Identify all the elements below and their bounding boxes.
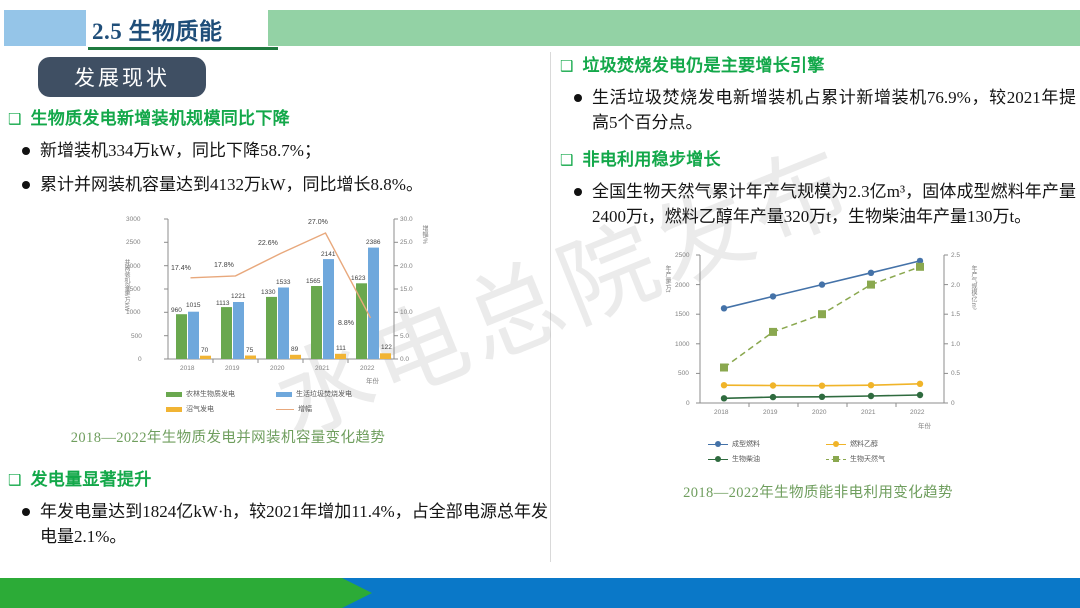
legend-label: 农林生物质发电	[186, 389, 235, 399]
square-bullet-icon: ❑	[8, 469, 21, 491]
chart1-ytick: 2500	[126, 239, 140, 246]
chart1-legend-item: 增幅	[276, 404, 312, 414]
left-section-2-heading: ❑ 发电量显著提升	[8, 469, 548, 491]
left-column: ❑ 生物质发电新增装机规模同比下降 新增装机334万kW，同比下降58.7%； …	[8, 108, 548, 558]
chart1-value-label: 89	[291, 346, 298, 353]
chart1-growth-label: 17.8%	[214, 262, 234, 269]
chart1-xtick: 2020	[270, 365, 284, 372]
chart1-y-axis-title: 并网装机容量/万kW	[122, 259, 131, 311]
legend-label: 增幅	[298, 404, 312, 414]
chart1-xtick: 2018	[180, 365, 194, 372]
chart2-y-axis-title: 年产量/万t	[663, 265, 672, 292]
chart1-value-label: 1221	[231, 293, 245, 300]
chart1-value-label: 2386	[366, 239, 380, 246]
list-item-text: 累计并网装机容量达到4132万kW，同比增长8.8%。	[40, 172, 423, 197]
chart1-value-label: 111	[336, 345, 346, 352]
chart1-value-label: 1623	[351, 275, 365, 282]
chart2-y2tick: 2.0	[951, 282, 960, 289]
list-item: 新增装机334万kW，同比下降58.7%；	[22, 138, 548, 163]
chart1-y2tick: 10.0	[400, 309, 413, 316]
chart2-y2-axis-title: 年产气规模/亿m³	[969, 265, 978, 310]
heading-text: 生物质发电新增装机规模同比下降	[30, 108, 290, 130]
square-bullet-icon: ❑	[560, 55, 573, 77]
right-section-2-heading: ❑ 非电利用稳步增长	[560, 149, 1076, 171]
chart2-ytick: 1000	[675, 341, 689, 348]
legend-swatch-icon	[276, 392, 292, 397]
legend-marker-icon	[708, 440, 728, 448]
legend-swatch-icon	[166, 392, 182, 397]
chart2-ytick: 2000	[675, 282, 689, 289]
chart1-legend-item: 沼气发电	[166, 404, 214, 414]
chart2-y2tick: 2.5	[951, 252, 960, 259]
chart2-legend-item: 生物柴油	[708, 454, 760, 464]
chart1-growth-label: 17.4%	[171, 265, 191, 272]
bullet-dot-icon	[22, 181, 30, 189]
chart2-ytick: 500	[678, 370, 689, 377]
section-pill-label: 发展现状	[74, 62, 170, 92]
chart1-ytick: 500	[131, 333, 142, 340]
chart1-value-label: 2141	[321, 251, 335, 258]
chart1-y2tick: 30.0	[400, 216, 413, 223]
list-item: 年发电量达到1824亿kW·h，较2021年增加11.4%，占全部电源总年发电量…	[22, 499, 548, 549]
legend-label: 生物天然气	[850, 454, 885, 464]
legend-swatch-icon	[166, 407, 182, 412]
legend-line-icon	[276, 409, 294, 410]
chart2-x-axis-title: 年份	[918, 420, 931, 430]
chart2-xtick: 2018	[714, 409, 728, 416]
chart1-value-label: 1113	[216, 300, 230, 307]
chart1-value-label: 1330	[261, 289, 275, 296]
chart1-legend-item: 农林生物质发电	[166, 389, 235, 399]
list-item-text: 全国生物天然气累计年产气规模为2.3亿m³，固体成型燃料年产量2400万t，燃料…	[592, 179, 1076, 229]
chart-1: 0 500 1000 1500 2000 2500 3000 并网装机容量/万k…	[126, 207, 436, 422]
chart1-value-label: 70	[201, 347, 208, 354]
chart1-growth-label: 22.6%	[258, 240, 278, 247]
chart2-y2tick: 0.5	[951, 370, 960, 377]
legend-label: 燃料乙醇	[850, 439, 878, 449]
list-item: 全国生物天然气累计年产气规模为2.3亿m³，固体成型燃料年产量2400万t，燃料…	[574, 179, 1076, 229]
chart2-xtick: 2022	[910, 409, 924, 416]
chart1-value-label: 75	[246, 347, 253, 354]
legend-marker-icon	[708, 455, 728, 463]
chart2-y2tick: 1.5	[951, 311, 960, 318]
chart-1-caption: 2018—2022年生物质发电并网装机容量变化趋势	[8, 426, 448, 447]
heading-text: 发电量显著提升	[30, 469, 151, 491]
chart1-value-label: 122	[381, 344, 392, 351]
list-item: 累计并网装机容量达到4132万kW，同比增长8.8%。	[22, 172, 548, 197]
chart1-y2tick: 0.0	[400, 356, 409, 363]
chart1-value-label: 1565	[306, 278, 320, 285]
chart2-ytick: 1500	[675, 311, 689, 318]
chart1-y2tick: 15.0	[400, 286, 413, 293]
square-bullet-icon: ❑	[8, 108, 21, 130]
bullet-dot-icon	[574, 188, 582, 196]
chart2-y2tick: 1.0	[951, 341, 960, 348]
bullet-dot-icon	[22, 147, 30, 155]
title-underline	[88, 47, 278, 50]
heading-text: 垃圾焚烧发电仍是主要增长引擎	[582, 55, 824, 77]
chart1-growth-label: 27.0%	[308, 219, 328, 226]
chart1-legend-item: 生活垃圾焚烧发电	[276, 389, 352, 399]
legend-label: 生物柴油	[732, 454, 760, 464]
section-pill: 发展现状	[38, 57, 206, 97]
chart1-ytick: 3000	[126, 216, 140, 223]
chart-2-caption: 2018—2022年生物质能非电利用变化趋势	[560, 481, 1076, 502]
list-item-text: 生活垃圾焚烧发电新增装机占累计新增装机76.9%，较2021年提高5个百分点。	[592, 85, 1076, 135]
chart1-y2tick: 20.0	[400, 263, 413, 270]
chart1-y2-axis-title: 增幅/%	[420, 225, 429, 244]
list-item-text: 新增装机334万kW，同比下降58.7%；	[40, 138, 321, 163]
legend-label: 沼气发电	[186, 404, 214, 414]
column-divider	[550, 52, 551, 562]
bullet-dot-icon	[22, 508, 30, 516]
chart1-y2tick: 25.0	[400, 239, 413, 246]
list-item-text: 年发电量达到1824亿kW·h，较2021年增加11.4%，占全部电源总年发电量…	[40, 499, 548, 549]
bullet-dot-icon	[574, 94, 582, 102]
left-section-1-heading: ❑ 生物质发电新增装机规模同比下降	[8, 108, 548, 130]
page-title: 2.5 生物质能	[92, 12, 223, 46]
chart2-legend-item: 燃料乙醇	[826, 439, 878, 449]
chart1-xtick: 2021	[315, 365, 329, 372]
chart2-xtick: 2019	[763, 409, 777, 416]
chart1-growth-label: 8.8%	[338, 320, 354, 327]
legend-marker-icon	[826, 440, 846, 448]
chart2-xtick: 2020	[812, 409, 826, 416]
chart2-xtick: 2021	[861, 409, 875, 416]
chart-2: 0 500 1000 1500 2000 2500 年产量/万t 0 0.5 1…	[656, 243, 1016, 473]
chart1-value-label: 1015	[186, 302, 200, 309]
chart2-ytick: 0	[686, 400, 690, 407]
heading-text: 非电利用稳步增长	[582, 149, 720, 171]
chart1-value-label: 960	[171, 307, 182, 314]
chart2-legend-item: 成型燃料	[708, 439, 760, 449]
right-column: ❑ 垃圾焚烧发电仍是主要增长引擎 生活垃圾焚烧发电新增装机占累计新增装机76.9…	[560, 55, 1076, 502]
footer-green-band	[0, 578, 372, 608]
right-section-1-heading: ❑ 垃圾焚烧发电仍是主要增长引擎	[560, 55, 1076, 77]
chart1-x-axis-title: 年份	[366, 375, 379, 385]
chart1-xtick: 2022	[360, 365, 374, 372]
chart2-ytick: 2500	[675, 252, 689, 259]
chart2-legend-item: 生物天然气	[826, 454, 885, 464]
chart1-y2tick: 5.0	[400, 333, 409, 340]
list-item: 生活垃圾焚烧发电新增装机占累计新增装机76.9%，较2021年提高5个百分点。	[574, 85, 1076, 135]
legend-label: 成型燃料	[732, 439, 760, 449]
footer-bar	[0, 578, 1080, 608]
legend-label: 生活垃圾焚烧发电	[296, 389, 352, 399]
chart2-y2tick: 0	[951, 400, 955, 407]
chart1-value-label: 1533	[276, 279, 290, 286]
header-blue-block	[4, 10, 86, 46]
header-green-block	[268, 10, 1080, 46]
chart1-ytick: 0	[138, 356, 142, 363]
legend-marker-icon	[826, 455, 846, 463]
chart1-xtick: 2019	[225, 365, 239, 372]
square-bullet-icon: ❑	[560, 149, 573, 171]
